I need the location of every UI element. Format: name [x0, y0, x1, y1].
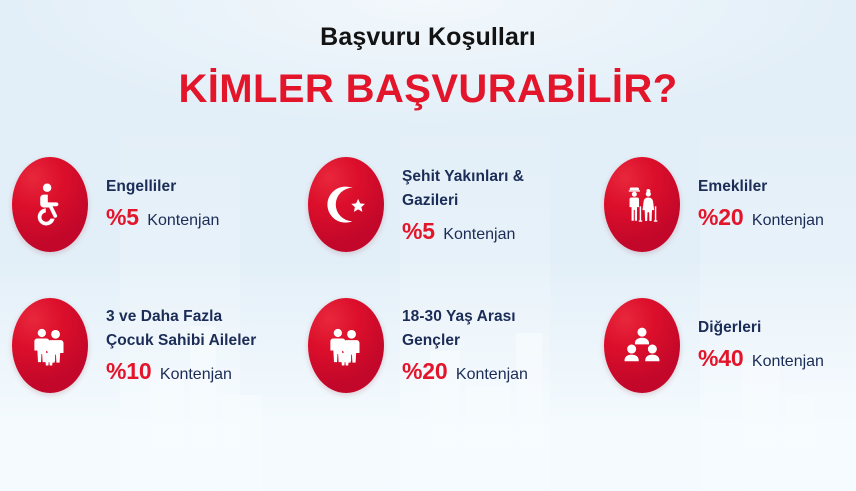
- card-body: Engelliler %5 Kontenjan: [88, 175, 219, 231]
- quota-percent: %5: [402, 218, 435, 244]
- card-label-line: Şehit Yakınları &: [402, 165, 524, 189]
- card-quota: %40 Kontenjan: [698, 345, 824, 372]
- card-body: Şehit Yakınları & Gazileri %5 Kontenjan: [384, 165, 524, 244]
- card-body: 3 ve Daha Fazla Çocuk Sahibi Aileler %10…: [88, 305, 256, 384]
- kicker-text: Başvuru Koşulları: [0, 24, 856, 52]
- elderly-couple-icon: [619, 181, 665, 227]
- badge-circle: [308, 157, 384, 252]
- card-label-line: Diğerleri: [698, 316, 824, 340]
- people-group-icon: [619, 322, 665, 368]
- quota-word: Kontenjan: [752, 212, 824, 229]
- card-label-line: 3 ve Daha Fazla: [106, 305, 256, 329]
- quota-percent: %20: [698, 204, 743, 230]
- wheelchair-accessible-icon: [27, 181, 73, 227]
- header: Başvuru Koşulları KİMLER BAŞVURABİLİR?: [0, 0, 856, 110]
- eligibility-card-grid: Engelliler %5 Kontenjan Şehit Yakınları …: [0, 134, 856, 416]
- eligibility-card-emekliler[interactable]: Emekliler %20 Kontenjan: [596, 134, 856, 275]
- eligibility-card-gencler[interactable]: 18-30 Yaş Arası Gençler %20 Kontenjan: [304, 275, 596, 416]
- quota-percent: %40: [698, 345, 743, 371]
- card-quota: %5 Kontenjan: [402, 218, 524, 245]
- quota-percent: %20: [402, 358, 447, 384]
- card-body: Diğerleri %40 Kontenjan: [680, 316, 824, 372]
- card-label-line: 18-30 Yaş Arası: [402, 305, 528, 329]
- quota-percent: %10: [106, 358, 151, 384]
- quota-word: Kontenjan: [147, 212, 219, 229]
- card-label-line: Emekliler: [698, 175, 824, 199]
- card-body: 18-30 Yaş Arası Gençler %20 Kontenjan: [384, 305, 528, 384]
- card-quota: %5 Kontenjan: [106, 204, 219, 231]
- badge-circle: [604, 157, 680, 252]
- quota-word: Kontenjan: [752, 353, 824, 370]
- card-quota: %20 Kontenjan: [402, 358, 528, 385]
- card-body: Emekliler %20 Kontenjan: [680, 175, 824, 231]
- card-label-line: Çocuk Sahibi Aileler: [106, 329, 256, 353]
- youth-group-icon: [323, 322, 369, 368]
- eligibility-card-digerleri[interactable]: Diğerleri %40 Kontenjan: [596, 275, 856, 416]
- badge-circle: [12, 298, 88, 393]
- quota-word: Kontenjan: [443, 226, 515, 243]
- eligibility-card-engelliler[interactable]: Engelliler %5 Kontenjan: [12, 134, 304, 275]
- card-label-line: Gazileri: [402, 189, 524, 213]
- quota-word: Kontenjan: [160, 366, 232, 383]
- badge-circle: [308, 298, 384, 393]
- card-label-line: Gençler: [402, 329, 528, 353]
- crescent-star-icon: [320, 178, 372, 230]
- card-label-line: Engelliler: [106, 175, 219, 199]
- quota-word: Kontenjan: [456, 366, 528, 383]
- family-with-children-icon: [27, 322, 73, 368]
- card-quota: %10 Kontenjan: [106, 358, 256, 385]
- eligibility-card-sehit-yakinlari-gazileri[interactable]: Şehit Yakınları & Gazileri %5 Kontenjan: [304, 134, 596, 275]
- card-quota: %20 Kontenjan: [698, 204, 824, 231]
- quota-percent: %5: [106, 204, 139, 230]
- badge-circle: [604, 298, 680, 393]
- badge-circle: [12, 157, 88, 252]
- page-title: KİMLER BAŞVURABİLİR?: [0, 68, 856, 110]
- eligibility-card-cok-cocuklu-aileler[interactable]: 3 ve Daha Fazla Çocuk Sahibi Aileler %10…: [12, 275, 304, 416]
